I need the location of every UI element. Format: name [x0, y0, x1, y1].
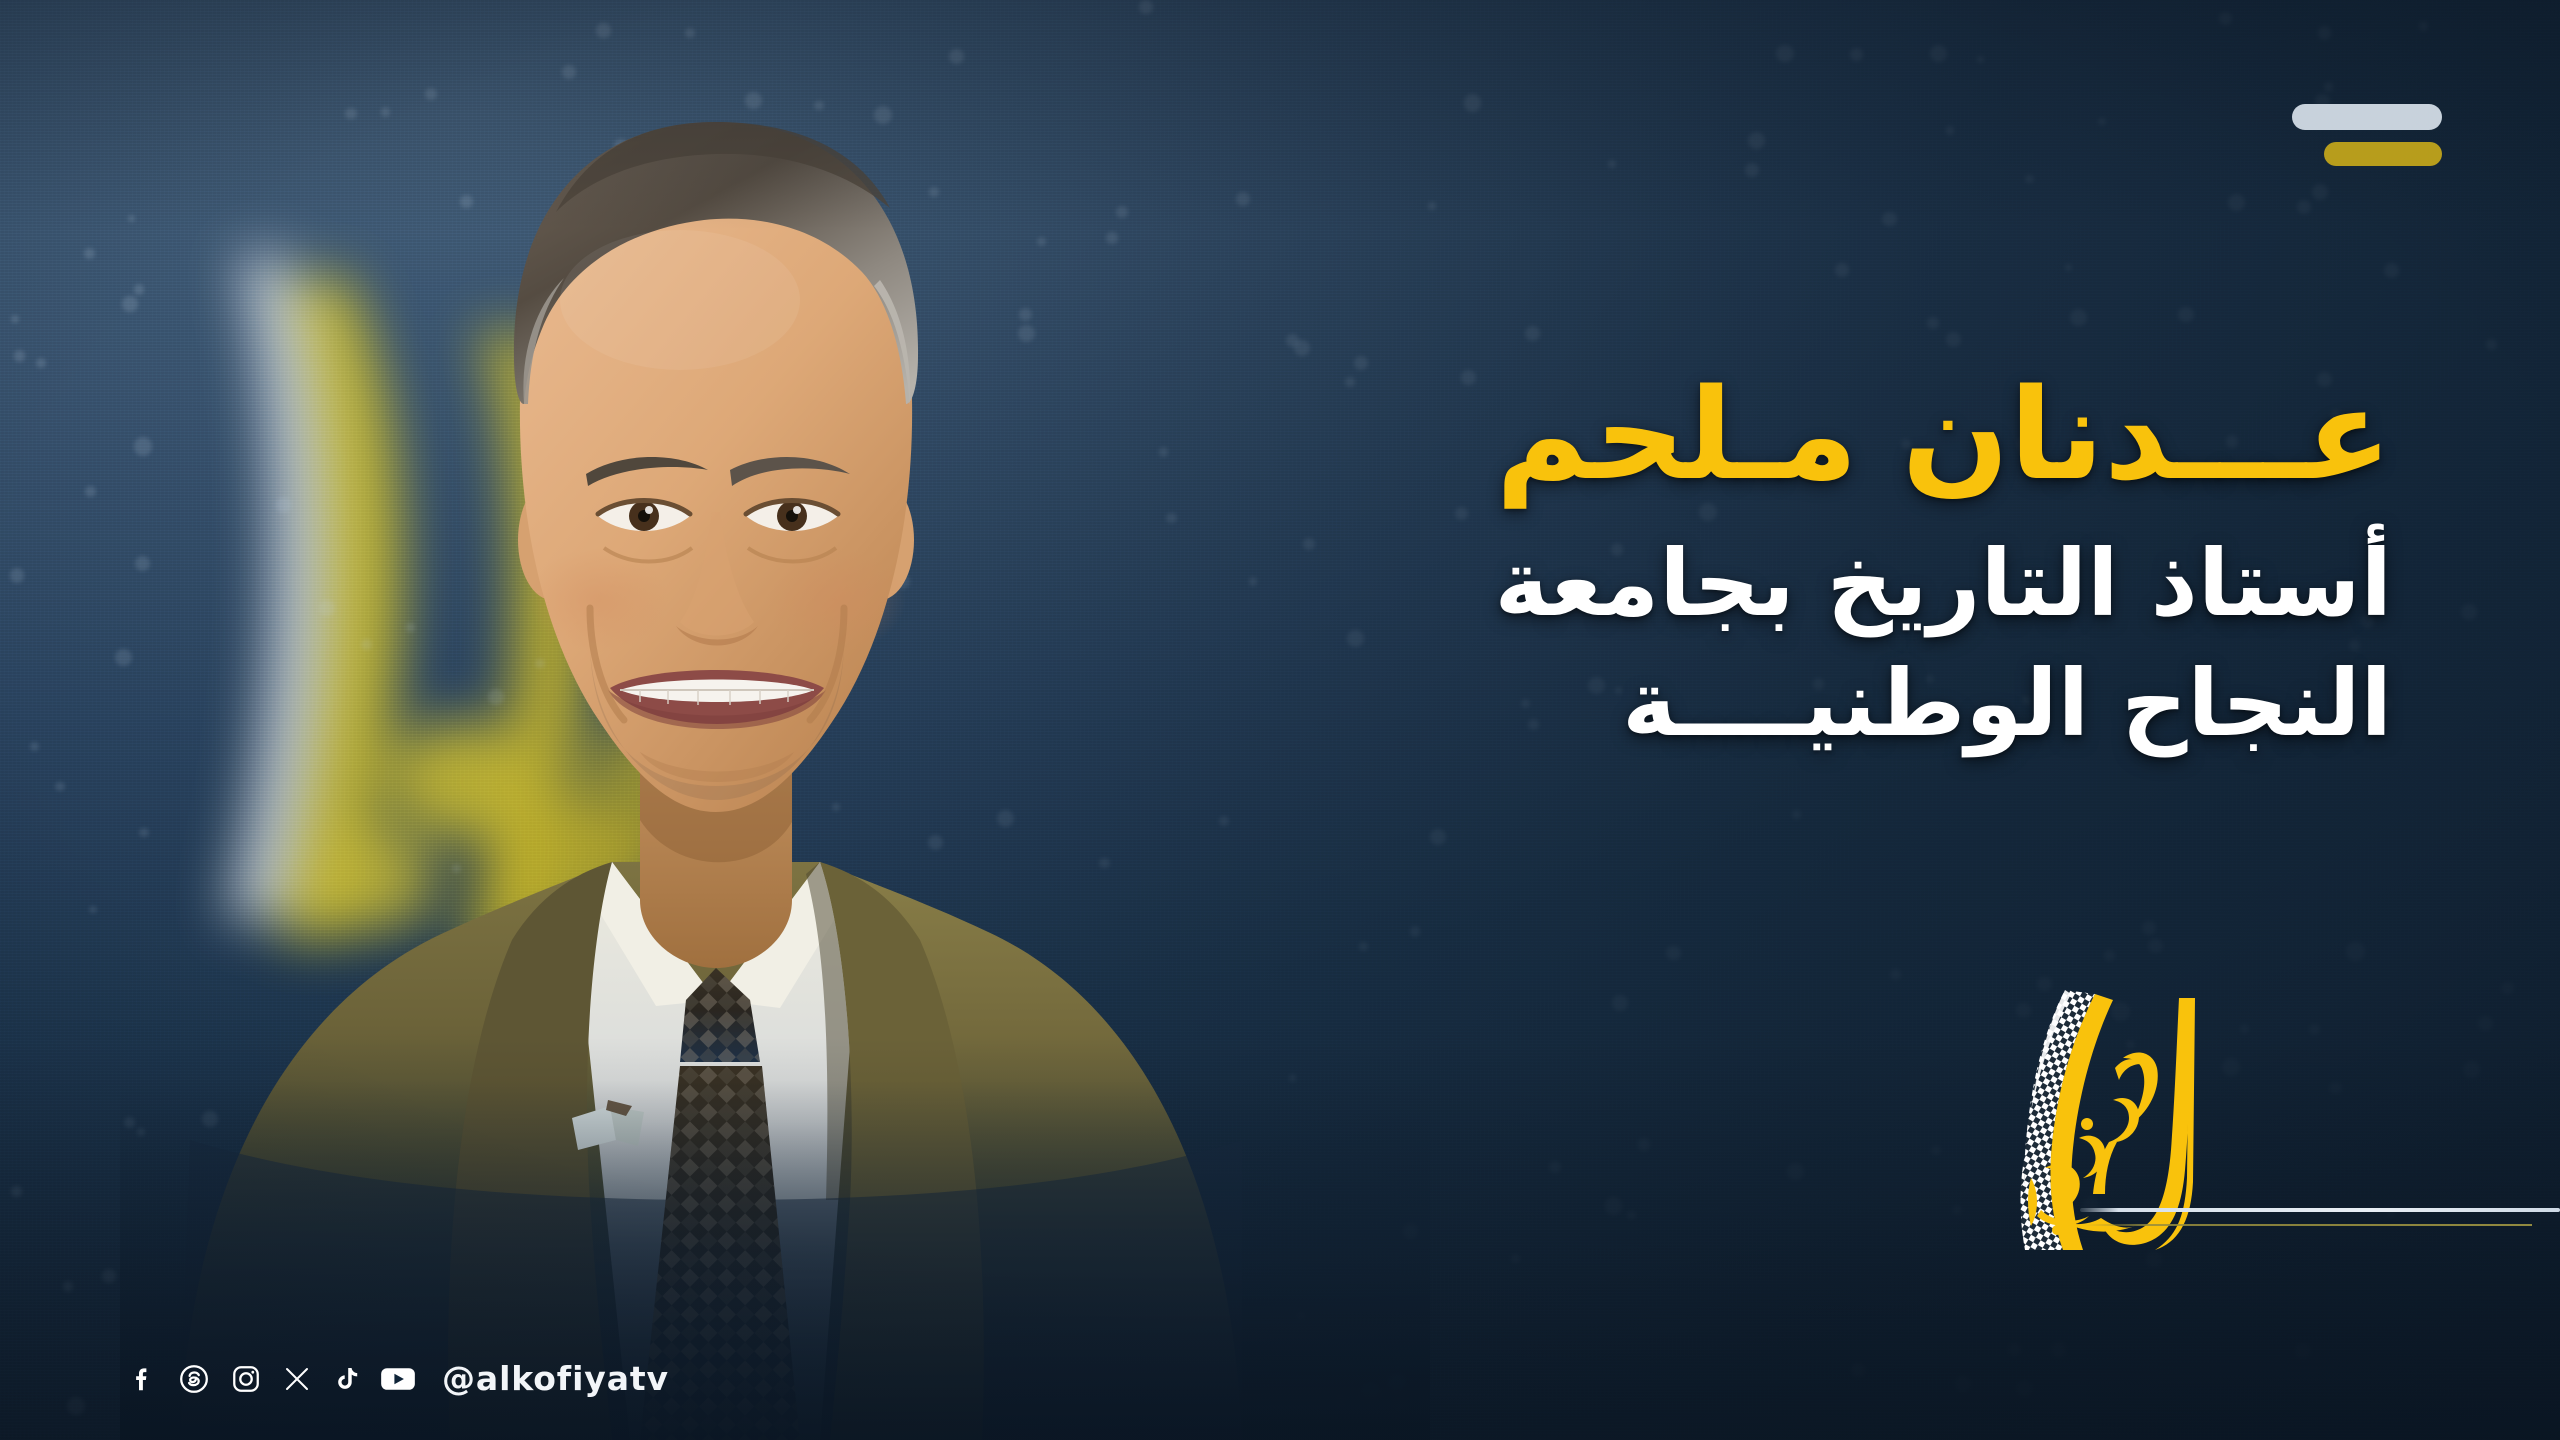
threads-icon[interactable]	[178, 1362, 210, 1396]
social-bar: @alkofiyatv	[128, 1359, 669, 1398]
channel-bug-bar-light	[2292, 104, 2442, 130]
x-icon[interactable]	[282, 1362, 312, 1396]
channel-bug	[2292, 104, 2452, 180]
broadcast-graphic-card: (function(){ var host = document.current…	[0, 0, 2560, 1440]
channel-logo	[2005, 972, 2305, 1262]
channel-bug-bar-gold	[2324, 142, 2442, 166]
person-name: عـــدنان مـلحم	[1122, 372, 2392, 498]
person-title-line-1: أستاذ التاريخ بجامعة	[1495, 530, 2392, 637]
tiktok-icon[interactable]	[332, 1362, 360, 1396]
instagram-icon[interactable]	[230, 1362, 262, 1396]
person-title: أستاذ التاريخ بجامعة النجاح الوطنيــــة	[1122, 524, 2392, 763]
facebook-icon[interactable]	[128, 1362, 158, 1396]
person-title-line-2: النجاح الوطنيــــة	[1122, 644, 2392, 764]
youtube-icon[interactable]	[380, 1362, 416, 1396]
social-handle[interactable]: @alkofiyatv	[442, 1359, 669, 1398]
title-block: عـــدنان مـلحم أستاذ التاريخ بجامعة النج…	[1122, 372, 2392, 763]
divider-line-white	[2080, 1208, 2560, 1212]
divider-line-gold	[2084, 1224, 2532, 1226]
